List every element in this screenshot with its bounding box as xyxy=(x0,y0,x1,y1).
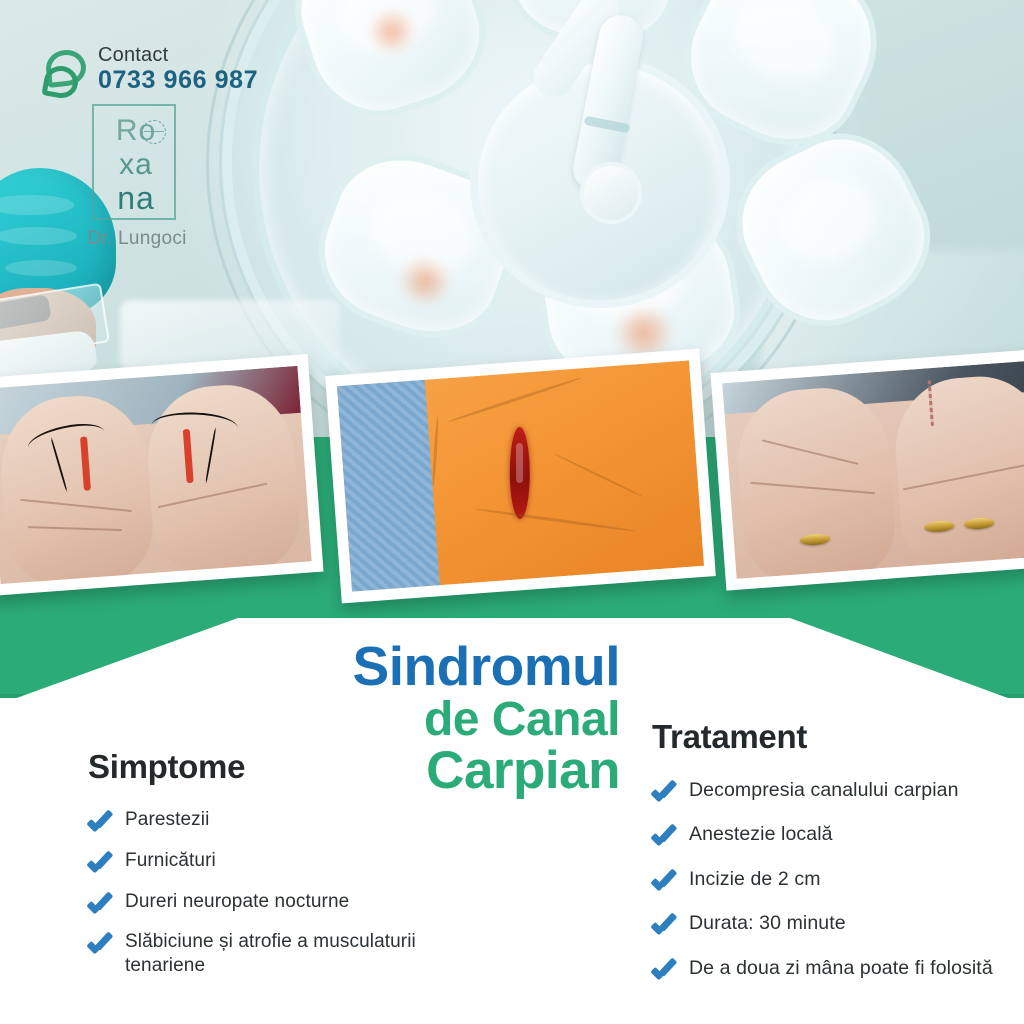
treatment-heading: Tratament xyxy=(652,718,1024,756)
postoperative-healed-palms xyxy=(722,359,1024,579)
chat-bubbles-icon xyxy=(44,50,88,94)
infographic-poster: Contact 0733 966 987 Ro xa na Dr. Lungoc… xyxy=(0,0,1024,1024)
list-item: De a doua zi mâna poate fi folosită xyxy=(652,956,1024,980)
list-item: Anestezie locală xyxy=(652,822,1024,846)
check-icon xyxy=(88,852,114,872)
treatment-text: Decompresia canalului carpian xyxy=(689,778,959,802)
symptom-text: Parestezii xyxy=(125,808,209,832)
check-icon xyxy=(88,893,114,913)
intraoperative-incision xyxy=(337,360,704,591)
symptoms-column: Simptome Parestezii Furnicături Dureri n… xyxy=(88,748,418,995)
logo-line-xa: xa xyxy=(94,150,178,180)
list-item: Parestezii xyxy=(88,808,418,832)
sun-compass-icon xyxy=(142,120,166,144)
contact-label: Contact xyxy=(98,44,168,67)
check-icon xyxy=(652,781,678,801)
treatment-column: Tratament Decompresia canalului carpian … xyxy=(652,718,1024,1000)
preoperative-palms-marked xyxy=(0,366,312,584)
list-item: Furnicături xyxy=(88,849,418,873)
treatment-text: Incizie de 2 cm xyxy=(689,867,821,891)
check-icon xyxy=(88,933,114,953)
list-item: Slăbiciune și atrofie a musculaturii ten… xyxy=(88,930,418,978)
photo-card-preoperative xyxy=(0,354,324,596)
treatment-text: Anestezie locală xyxy=(689,822,833,846)
treatment-text: De a doua zi mâna poate fi folosită xyxy=(689,956,993,980)
list-item: Durata: 30 minute xyxy=(652,911,1024,935)
symptom-text: Dureri neuropate nocturne xyxy=(125,890,349,914)
symptom-text: Furnicături xyxy=(125,849,216,873)
list-item: Dureri neuropate nocturne xyxy=(88,890,418,914)
treatment-text: Durata: 30 minute xyxy=(689,911,846,935)
title-line-1: Sindromul xyxy=(300,640,620,694)
symptom-text: Slăbiciune și atrofie a musculaturii ten… xyxy=(125,930,418,978)
brand-logo: Ro xa na xyxy=(92,104,176,220)
logo-line-na: na xyxy=(94,182,178,214)
photo-card-intraoperative xyxy=(325,349,716,604)
list-item: Decompresia canalului carpian xyxy=(652,778,1024,802)
check-icon xyxy=(652,959,678,979)
check-icon xyxy=(652,870,678,890)
doctor-name-label: Dr. Lungoci xyxy=(72,228,202,250)
lamp-arm-joint xyxy=(580,162,642,224)
photo-card-postoperative xyxy=(710,347,1024,590)
list-item: Incizie de 2 cm xyxy=(652,867,1024,891)
contact-phone-number[interactable]: 0733 966 987 xyxy=(98,66,258,95)
check-icon xyxy=(652,914,678,934)
check-icon xyxy=(88,811,114,831)
symptoms-heading: Simptome xyxy=(88,748,418,786)
title-line-2: de Canal xyxy=(300,696,620,743)
check-icon xyxy=(652,825,678,845)
